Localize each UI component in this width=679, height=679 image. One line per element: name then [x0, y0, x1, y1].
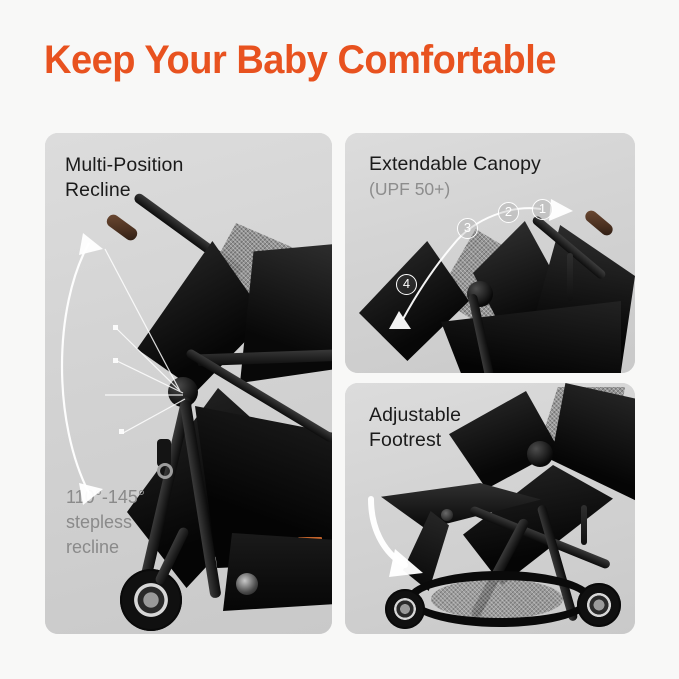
- canopy-stop-4: 4: [396, 274, 417, 295]
- recline-angle-note: 110°-145° stepless recline: [66, 485, 145, 560]
- canopy-stop-3: 3: [457, 218, 478, 239]
- panel-title-canopy: Extendable Canopy: [369, 152, 541, 177]
- strap-loop: [567, 253, 573, 301]
- wheel-icon-front: [385, 589, 425, 629]
- wheel-icon: [120, 569, 182, 631]
- canopy-stop-1: 1: [532, 199, 553, 220]
- panel-extendable-canopy: Extendable Canopy (UPF 50+) 1 2 3 4: [345, 133, 635, 373]
- basket-frame: [407, 571, 593, 627]
- handle-grip-icon: [583, 208, 615, 238]
- footrest-pivot-hub: [527, 441, 553, 467]
- footrest-hinge: [441, 509, 453, 521]
- panel-multi-position-recline: Multi-Position Recline 110°-145° steples…: [45, 133, 332, 634]
- panel-adjustable-footrest: Adjustable Footrest: [345, 383, 635, 634]
- canopy-stop-2: 2: [498, 202, 519, 223]
- axle-hub: [236, 573, 258, 595]
- wheel-icon-rear: [577, 583, 621, 627]
- panel-title-recline: Multi-Position Recline: [65, 153, 183, 203]
- panel-subtitle-upf: (UPF 50+): [369, 178, 450, 200]
- lever-ring: [157, 463, 173, 479]
- storage-basket: [223, 533, 332, 611]
- panel-title-footrest: Adjustable Footrest: [369, 403, 461, 453]
- strap-loop: [581, 505, 587, 545]
- handle-grip-icon: [104, 212, 139, 243]
- page-title: Keep Your Baby Comfortable: [44, 38, 556, 83]
